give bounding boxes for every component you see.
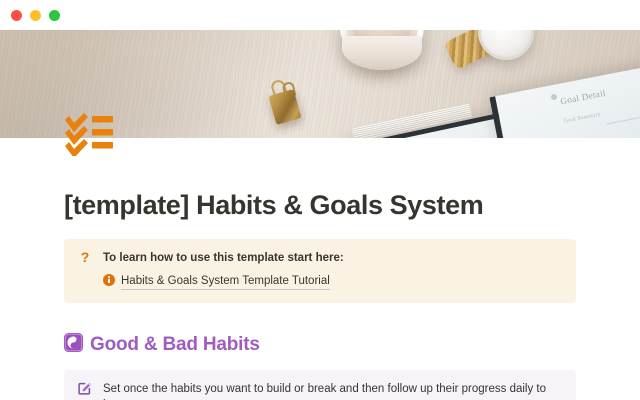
habits-callout[interactable]: Set once the habits you want to build or… xyxy=(64,370,576,400)
page-icon-checklist[interactable] xyxy=(64,112,114,156)
window-traffic-lights xyxy=(11,10,60,21)
page-content-area: [template] Habits & Goals System ? To le… xyxy=(0,138,640,400)
window-titlebar xyxy=(0,0,640,30)
browser-window: Goal Detail Goal Summary Goal Detail [te… xyxy=(0,0,640,400)
tutorial-link[interactable]: Habits & Goals System Template Tutorial xyxy=(121,273,330,290)
tutorial-callout-body: To learn how to use this template start … xyxy=(103,250,562,291)
habits-callout-text: Set once the habits you want to build or… xyxy=(103,381,562,400)
yin-yang-icon xyxy=(64,333,83,358)
page-title[interactable]: [template] Habits & Goals System xyxy=(64,138,576,221)
pencil-square-icon xyxy=(77,381,93,399)
info-circle-icon xyxy=(103,273,115,291)
question-mark-icon: ? xyxy=(77,250,93,265)
cover-shadow-bottom-left xyxy=(0,38,300,138)
tutorial-callout-text: To learn how to use this template start … xyxy=(103,250,562,267)
page-content-column: [template] Habits & Goals System ? To le… xyxy=(64,138,576,400)
habits-callout-body: Set once the habits you want to build or… xyxy=(103,381,562,400)
close-window-button[interactable] xyxy=(11,10,22,21)
tutorial-link-row[interactable]: Habits & Goals System Template Tutorial xyxy=(103,273,562,291)
minimize-window-button[interactable] xyxy=(30,10,41,21)
tutorial-callout[interactable]: ? To learn how to use this template star… xyxy=(64,239,576,303)
section-heading-good-bad-habits[interactable]: Good & Bad Habits xyxy=(64,303,576,358)
orange-checklist-icon xyxy=(64,112,114,156)
maximize-window-button[interactable] xyxy=(49,10,60,21)
section-heading-label: Good & Bad Habits xyxy=(90,334,260,356)
